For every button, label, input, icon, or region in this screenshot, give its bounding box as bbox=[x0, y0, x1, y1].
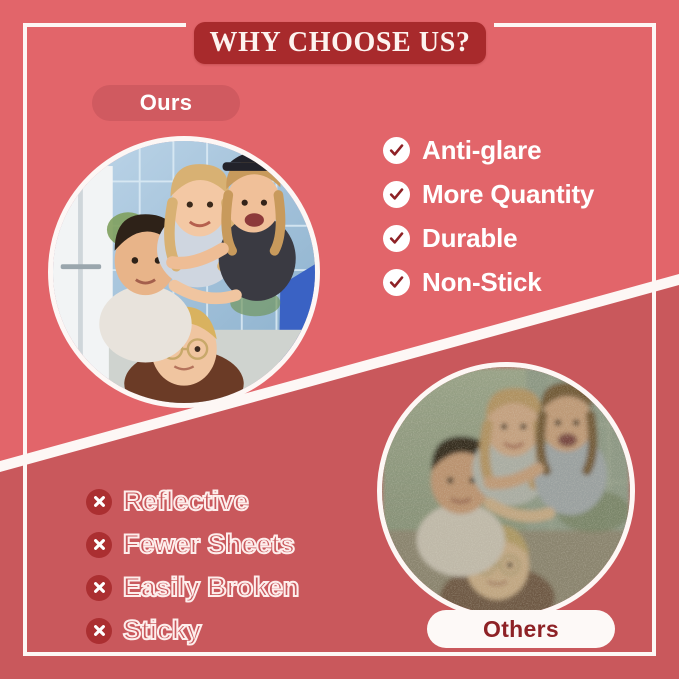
x-icon bbox=[86, 618, 112, 644]
why-choose-us-poster: WHY CHOOSE US? Ours bbox=[0, 0, 679, 679]
drawback-label: Easily Broken bbox=[123, 572, 299, 603]
drawback-label: Reflective bbox=[123, 486, 249, 517]
feature-row: Durable bbox=[383, 216, 653, 260]
feature-row: More Quantity bbox=[383, 172, 653, 216]
x-icon bbox=[86, 575, 112, 601]
x-icon bbox=[86, 532, 112, 558]
check-icon bbox=[383, 181, 410, 208]
check-icon bbox=[383, 225, 410, 252]
feature-row: Non-Stick bbox=[383, 260, 653, 304]
check-icon bbox=[383, 137, 410, 164]
others-badge: Others bbox=[427, 610, 615, 648]
check-icon bbox=[383, 269, 410, 296]
x-icon bbox=[86, 489, 112, 515]
ours-photo-image bbox=[53, 141, 315, 403]
feature-label: Durable bbox=[422, 223, 517, 254]
ours-photo bbox=[48, 136, 320, 408]
page-title: WHY CHOOSE US? bbox=[210, 27, 471, 59]
feature-label: Anti-glare bbox=[422, 135, 541, 166]
feature-row: Anti-glare bbox=[383, 128, 653, 172]
drawback-label: Sticky bbox=[123, 615, 201, 646]
others-photo-image bbox=[382, 367, 630, 615]
feature-label: Non-Stick bbox=[422, 267, 542, 298]
ours-badge: Ours bbox=[92, 85, 240, 121]
others-badge-label: Others bbox=[483, 616, 559, 643]
drawback-row: Easily Broken bbox=[86, 566, 386, 609]
drawback-row: Reflective bbox=[86, 480, 386, 523]
ours-feature-list: Anti-glare More Quantity Durable Non-Sti… bbox=[383, 128, 653, 304]
title-banner: WHY CHOOSE US? bbox=[194, 22, 486, 64]
ours-badge-label: Ours bbox=[140, 90, 193, 116]
drawback-row: Sticky bbox=[86, 609, 386, 652]
others-photo bbox=[377, 362, 635, 620]
drawback-label: Fewer Sheets bbox=[123, 529, 295, 560]
others-drawback-list: Reflective Fewer Sheets Easily Broken St… bbox=[86, 480, 386, 652]
drawback-row: Fewer Sheets bbox=[86, 523, 386, 566]
feature-label: More Quantity bbox=[422, 179, 594, 210]
